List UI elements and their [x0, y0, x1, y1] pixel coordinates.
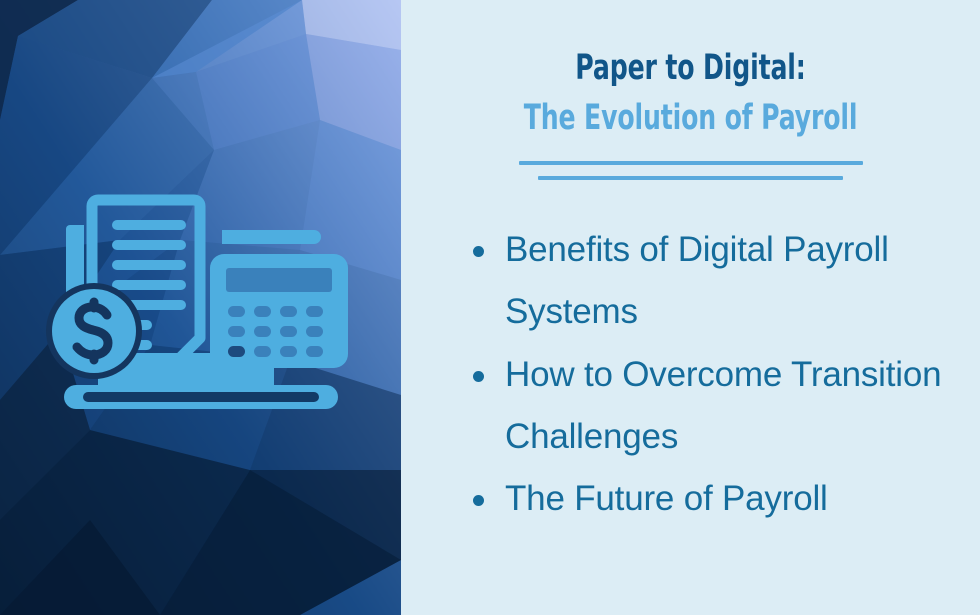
divider-line	[538, 176, 843, 180]
left-visual-panel	[0, 0, 401, 615]
list-item-label: Benefits of Digital Payroll Systems	[505, 230, 889, 331]
right-content-panel: Paper to Digital: The Evolution of Payro…	[401, 0, 980, 615]
bullet-dot-icon	[473, 371, 484, 382]
title-divider-lower	[401, 176, 980, 180]
calculator-icon	[210, 230, 348, 368]
calculator-top-tab	[222, 230, 321, 244]
list-item-label: How to Overcome Transition Challenges	[505, 355, 941, 456]
topics-bullet-list: Benefits of Digital Payroll Systems How …	[461, 219, 980, 530]
title-divider-upper	[401, 161, 980, 165]
page-title-line-2: The Evolution of Payroll	[459, 94, 922, 144]
slide-canvas: Paper to Digital: The Evolution of Payro…	[0, 0, 980, 615]
divider-line	[519, 161, 863, 165]
page-title: Paper to Digital: The Evolution of Payro…	[401, 44, 980, 143]
page-title-line-1: Paper to Digital:	[459, 44, 922, 94]
list-item: Benefits of Digital Payroll Systems	[461, 219, 980, 344]
bullet-dot-icon	[473, 246, 484, 257]
calculator-display	[226, 268, 332, 292]
list-item-label: The Future of Payroll	[505, 479, 828, 518]
list-item: How to Overcome Transition Challenges	[461, 344, 980, 469]
list-item: The Future of Payroll	[461, 468, 980, 530]
laptop-trackpad-slot	[83, 392, 319, 402]
bullet-dot-icon	[473, 495, 484, 506]
payroll-illustration	[36, 168, 366, 433]
dollar-coin-icon	[46, 283, 142, 379]
